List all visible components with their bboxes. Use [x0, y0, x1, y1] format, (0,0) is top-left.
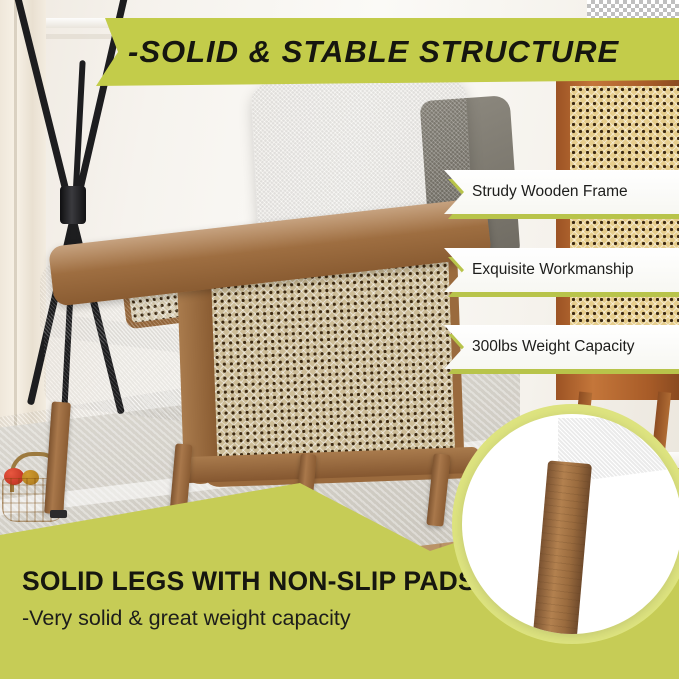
product-infographic: -SOLID & STABLE STRUCTURE Strudy Wooden …: [0, 0, 679, 679]
non-slip-pad-icon: [50, 510, 67, 518]
bottom-banner-text-group: SOLID LEGS WITH NON-SLIP PADS -Very soli…: [22, 566, 462, 631]
transparency-checker-icon: [587, 0, 679, 18]
bottom-banner-title: SOLID LEGS WITH NON-SLIP PADS: [22, 566, 462, 597]
ribbon-body: 300lbs Weight Capacity: [444, 325, 679, 369]
inset-chair-leg: [532, 460, 592, 634]
feature-callout-weight-capacity[interactable]: 300lbs Weight Capacity: [444, 325, 679, 371]
ribbon-body: Strudy Wooden Frame: [444, 170, 679, 214]
feature-callout-wooden-frame[interactable]: Strudy Wooden Frame: [444, 170, 679, 216]
accent-chair: [30, 72, 500, 492]
ribbon-body: Exquisite Workmanship: [444, 248, 679, 292]
feature-callout-workmanship[interactable]: Exquisite Workmanship: [444, 248, 679, 294]
detail-inset-leg-closeup: [462, 414, 679, 634]
bottom-banner-subtitle: -Very solid & great weight capacity: [22, 606, 462, 631]
header-banner-title: -SOLID & STABLE STRUCTURE: [128, 34, 619, 70]
feature-callout-label: Exquisite Workmanship: [472, 261, 634, 279]
cane-weave-icon: [203, 255, 455, 478]
feature-callout-label: 300lbs Weight Capacity: [472, 338, 635, 356]
feature-callout-label: Strudy Wooden Frame: [472, 183, 628, 201]
